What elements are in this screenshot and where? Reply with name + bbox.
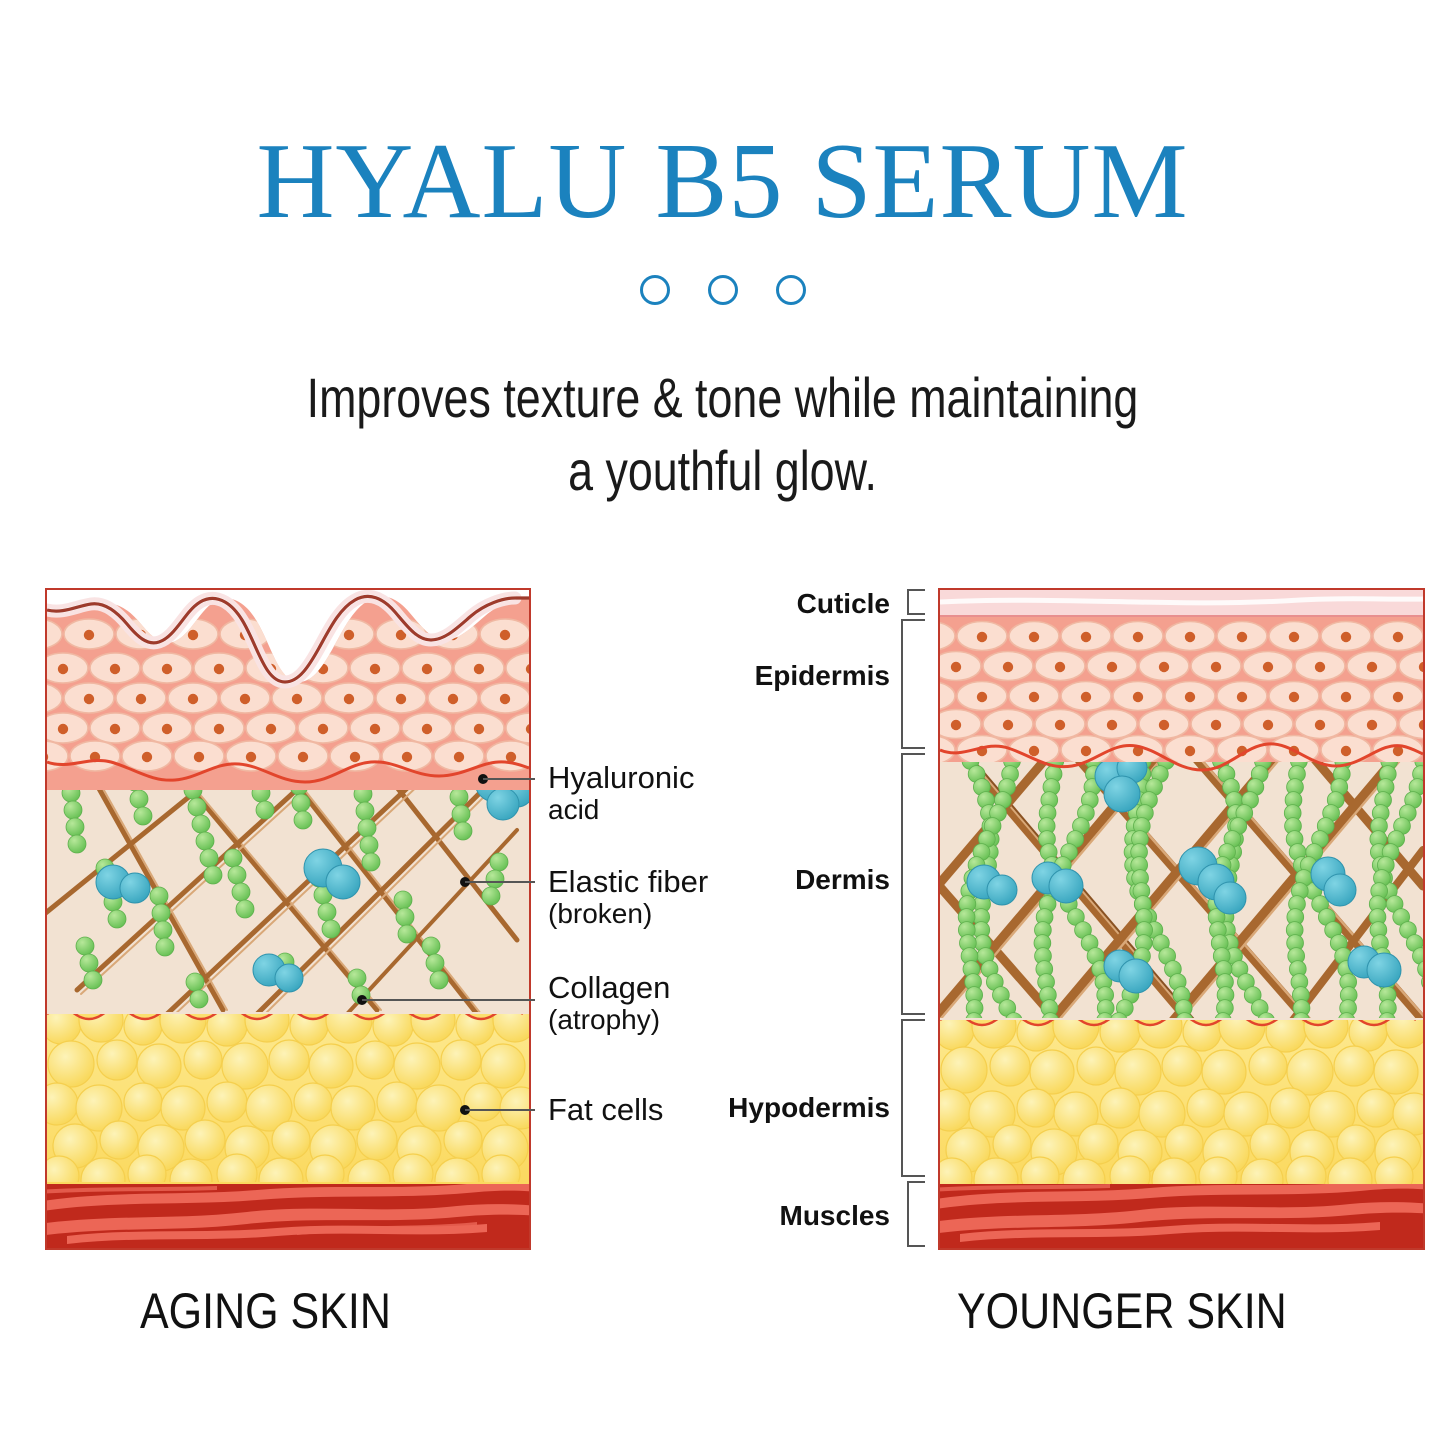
cell-nucleus: [370, 724, 380, 734]
cell-nucleus: [1237, 692, 1247, 702]
aging-skin-caption: AGING SKIN: [140, 1282, 391, 1340]
cell-nucleus: [84, 694, 94, 704]
cell-nucleus: [1289, 632, 1299, 642]
bracket-dermis: [902, 754, 925, 1014]
cell-nucleus: [1081, 692, 1091, 702]
cell-nucleus: [162, 724, 172, 734]
cell-nucleus: [1159, 662, 1169, 672]
circle-icon-2: [708, 275, 738, 305]
cell-nucleus: [1133, 632, 1143, 642]
callout-label: Hyaluronic: [548, 760, 694, 795]
cell-nucleus: [240, 694, 250, 704]
cell-nucleus: [162, 664, 172, 674]
cell-nucleus: [1367, 720, 1377, 730]
cell-nucleus: [474, 664, 484, 674]
bracket-epidermis: [902, 620, 925, 748]
cell-nucleus: [1185, 632, 1195, 642]
cell-nucleus: [1289, 692, 1299, 702]
dermis-layer-shapes: [940, 738, 1423, 1029]
cell-nucleus: [474, 724, 484, 734]
cell-nucleus: [1393, 692, 1403, 702]
cell-nucleus: [188, 630, 198, 640]
cell-nucleus: [1003, 662, 1013, 672]
cell-nucleus: [246, 752, 256, 762]
cell-nucleus: [1367, 662, 1377, 672]
cell-nucleus: [84, 630, 94, 640]
cell-nucleus: [448, 694, 458, 704]
cell-nucleus: [214, 724, 224, 734]
cell-nucleus: [188, 694, 198, 704]
cell-nucleus: [1185, 692, 1195, 702]
callout-hyaluronic-acid: Hyaluronic acid: [548, 762, 694, 825]
cell-nucleus: [58, 724, 68, 734]
layer-label-epidermis: Epidermis: [600, 660, 890, 692]
callout-collagen: Collagen (atrophy): [548, 972, 670, 1035]
cell-nucleus: [422, 664, 432, 674]
cell-nucleus: [142, 752, 152, 762]
dermis-layer-shapes: [47, 760, 529, 1018]
cell-nucleus: [318, 664, 328, 674]
cell-nucleus: [298, 752, 308, 762]
cell-nucleus: [292, 630, 302, 640]
cell-nucleus: [402, 752, 412, 762]
cell-nucleus: [1029, 632, 1039, 642]
cell-nucleus: [136, 694, 146, 704]
cell-nucleus: [1263, 720, 1273, 730]
cell-nucleus: [1133, 692, 1143, 702]
cell-nucleus: [266, 724, 276, 734]
decorative-dots: [0, 275, 1445, 305]
cell-nucleus: [1237, 632, 1247, 642]
cell-nucleus: [1107, 720, 1117, 730]
cell-nucleus: [951, 720, 961, 730]
cell-nucleus: [1341, 692, 1351, 702]
cell-nucleus: [1185, 746, 1195, 756]
page-title: HYALU B5 SERUM: [0, 128, 1445, 236]
cell-nucleus: [1003, 720, 1013, 730]
epidermis-layer-shapes: [940, 590, 1423, 770]
cell-nucleus: [214, 664, 224, 674]
cell-nucleus: [977, 692, 987, 702]
cell-nucleus: [292, 694, 302, 704]
cell-nucleus: [110, 724, 120, 734]
cell-nucleus: [344, 694, 354, 704]
layer-label-dermis: Dermis: [600, 864, 890, 896]
cell-nucleus: [1341, 632, 1351, 642]
younger-skin-diagram: [938, 588, 1425, 1250]
callout-sublabel: (broken): [548, 899, 708, 929]
subtitle-line-2: a youthful glow.: [145, 435, 1301, 508]
cell-nucleus: [454, 752, 464, 762]
cell-nucleus: [506, 752, 516, 762]
cell-nucleus: [194, 752, 204, 762]
subtitle-line-1: Improves texture & tone while maintainin…: [145, 362, 1301, 435]
cell-nucleus: [318, 724, 328, 734]
cell-nucleus: [1211, 720, 1221, 730]
cell-nucleus: [951, 662, 961, 672]
layer-label-muscles: Muscles: [600, 1200, 890, 1232]
bracket-hypodermis: [902, 1020, 925, 1176]
cell-nucleus: [977, 632, 987, 642]
layer-label-cuticle: Cuticle: [600, 588, 890, 620]
cell-nucleus: [110, 664, 120, 674]
callout-sublabel: acid: [548, 795, 694, 825]
bracket-muscles: [908, 1182, 925, 1246]
cell-nucleus: [1029, 746, 1039, 756]
cell-nucleus: [1107, 662, 1117, 672]
muscle-layer-shapes: [47, 1182, 529, 1248]
younger-skin-caption: YOUNGER SKIN: [957, 1282, 1287, 1340]
cell-nucleus: [1029, 692, 1039, 702]
callout-sublabel: (atrophy): [548, 1005, 670, 1035]
subtitle: Improves texture & tone while maintainin…: [145, 362, 1301, 508]
cell-nucleus: [350, 752, 360, 762]
cell-nucleus: [1341, 746, 1351, 756]
cell-nucleus: [1315, 662, 1325, 672]
infographic-root: HYALU B5 SERUM Improves texture & tone w…: [0, 0, 1445, 1445]
callout-label: Collagen: [548, 970, 670, 1005]
cell-nucleus: [1159, 720, 1169, 730]
cell-nucleus: [370, 664, 380, 674]
muscle-layer-shapes: [940, 1180, 1423, 1248]
cell-nucleus: [1055, 720, 1065, 730]
cell-nucleus: [422, 724, 432, 734]
cell-nucleus: [396, 694, 406, 704]
cell-nucleus: [1081, 632, 1091, 642]
cell-nucleus: [1393, 632, 1403, 642]
cell-nucleus: [1263, 662, 1273, 672]
bracket-cuticle: [908, 590, 925, 614]
cell-nucleus: [1055, 662, 1065, 672]
circle-icon-1: [640, 275, 670, 305]
layer-label-hypodermis: Hypodermis: [600, 1092, 890, 1124]
aging-skin-diagram: [45, 588, 531, 1250]
cell-nucleus: [500, 630, 510, 640]
cell-nucleus: [1315, 720, 1325, 730]
cell-nucleus: [1081, 746, 1091, 756]
fat-cell-layer-shapes: [47, 997, 529, 1202]
circle-icon-3: [776, 275, 806, 305]
cell-nucleus: [344, 630, 354, 640]
cell-nucleus: [58, 664, 68, 674]
epidermis-layer-shapes: [47, 590, 529, 790]
cell-nucleus: [500, 694, 510, 704]
cell-nucleus: [1211, 662, 1221, 672]
fat-cell-layer-shapes: [940, 1003, 1423, 1202]
